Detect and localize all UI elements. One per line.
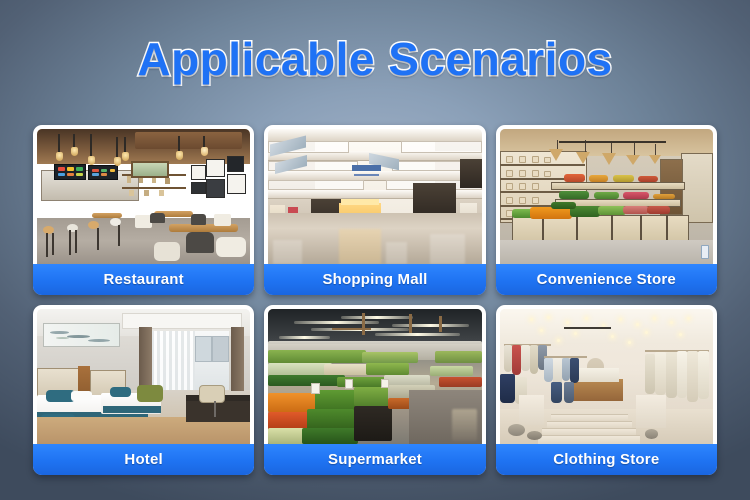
- hotel-scene-art: [37, 309, 250, 444]
- scenario-card-hotel[interactable]: Hotel: [33, 305, 254, 475]
- supermarket-scene-art: [268, 309, 481, 444]
- convenience-store-photo: [500, 129, 713, 264]
- clothing-store-scene-art: [500, 309, 713, 444]
- convenience-store-scene-art: [500, 129, 713, 264]
- clothing-store-photo: [500, 309, 713, 444]
- scenario-card-supermarket[interactable]: Supermarket: [264, 305, 485, 475]
- supermarket-photo: [268, 309, 481, 444]
- scenario-card-restaurant[interactable]: Restaurant: [33, 125, 254, 295]
- restaurant-scene-art: [37, 129, 250, 264]
- restaurant-photo: [37, 129, 250, 264]
- scenario-card-shopping-mall[interactable]: Shopping Mall: [264, 125, 485, 295]
- card-label-convenience-store: Convenience Store: [496, 264, 717, 295]
- card-label-clothing-store: Clothing Store: [496, 444, 717, 475]
- card-label-hotel: Hotel: [33, 444, 254, 475]
- page-title: Applicable Scenarios: [137, 32, 612, 86]
- card-label-restaurant: Restaurant: [33, 264, 254, 295]
- shopping-mall-photo: [268, 129, 481, 264]
- card-label-shopping-mall: Shopping Mall: [264, 264, 485, 295]
- scenario-card-convenience-store[interactable]: Convenience Store: [496, 125, 717, 295]
- applicable-scenarios-page: Applicable Scenarios: [0, 0, 750, 500]
- shopping-mall-scene-art: [268, 129, 481, 264]
- page-title-container: Applicable Scenarios: [0, 32, 750, 86]
- card-label-supermarket: Supermarket: [264, 444, 485, 475]
- scenario-card-clothing-store[interactable]: Clothing Store: [496, 305, 717, 475]
- hotel-photo: [37, 309, 250, 444]
- scenario-card-grid: Restaurant: [33, 125, 717, 475]
